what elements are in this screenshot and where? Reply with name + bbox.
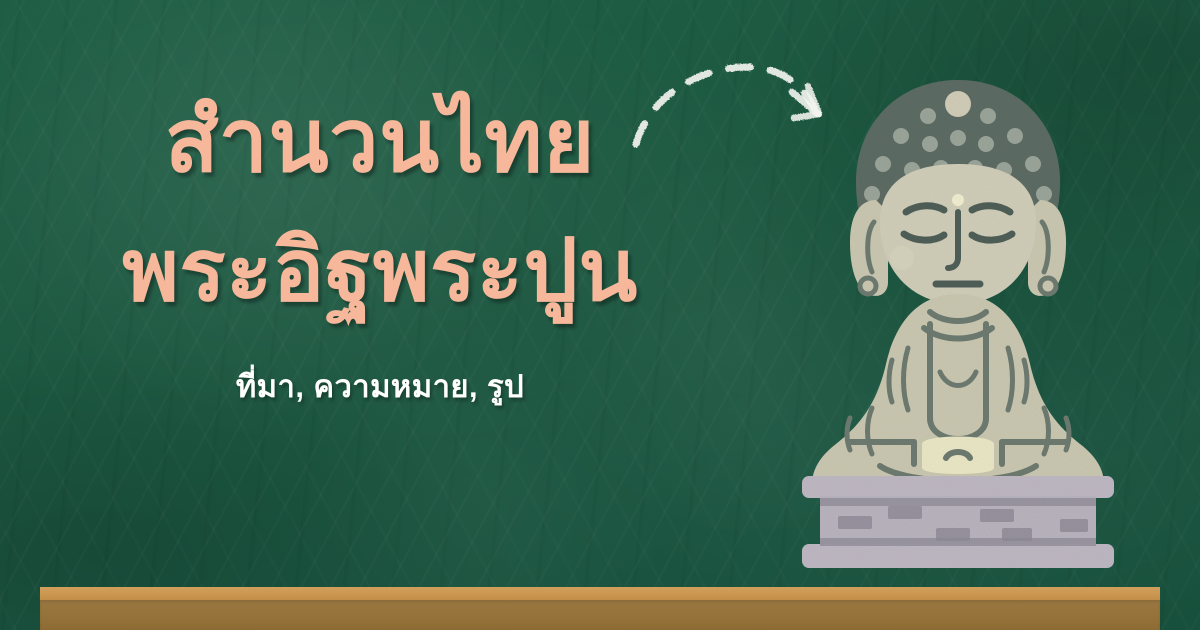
headline-block: สำนวนไทย พระอิฐพระปูน ที่มา, ความหมาย, ร… bbox=[0, 96, 760, 411]
ledge-body bbox=[40, 600, 1160, 630]
headline-subtitle: ที่มา, ความหมาย, รูป bbox=[0, 361, 760, 411]
title-card-canvas: สำนวนไทย พระอิฐพระปูน ที่มา, ความหมาย, ร… bbox=[0, 0, 1200, 630]
ledge-top-lip bbox=[40, 587, 1160, 600]
chalkboard-wooden-ledge bbox=[40, 587, 1160, 630]
seated-stone-buddha-statue-icon bbox=[788, 72, 1128, 572]
statue-robe bbox=[812, 294, 1104, 485]
statue-hands bbox=[922, 437, 994, 475]
statue-face bbox=[880, 164, 1036, 304]
headline-line-2: พระอิฐพระปูน bbox=[0, 228, 760, 316]
stone-brick-pedestal-icon bbox=[802, 476, 1114, 568]
headline-line-1: สำนวนไทย bbox=[0, 96, 760, 186]
